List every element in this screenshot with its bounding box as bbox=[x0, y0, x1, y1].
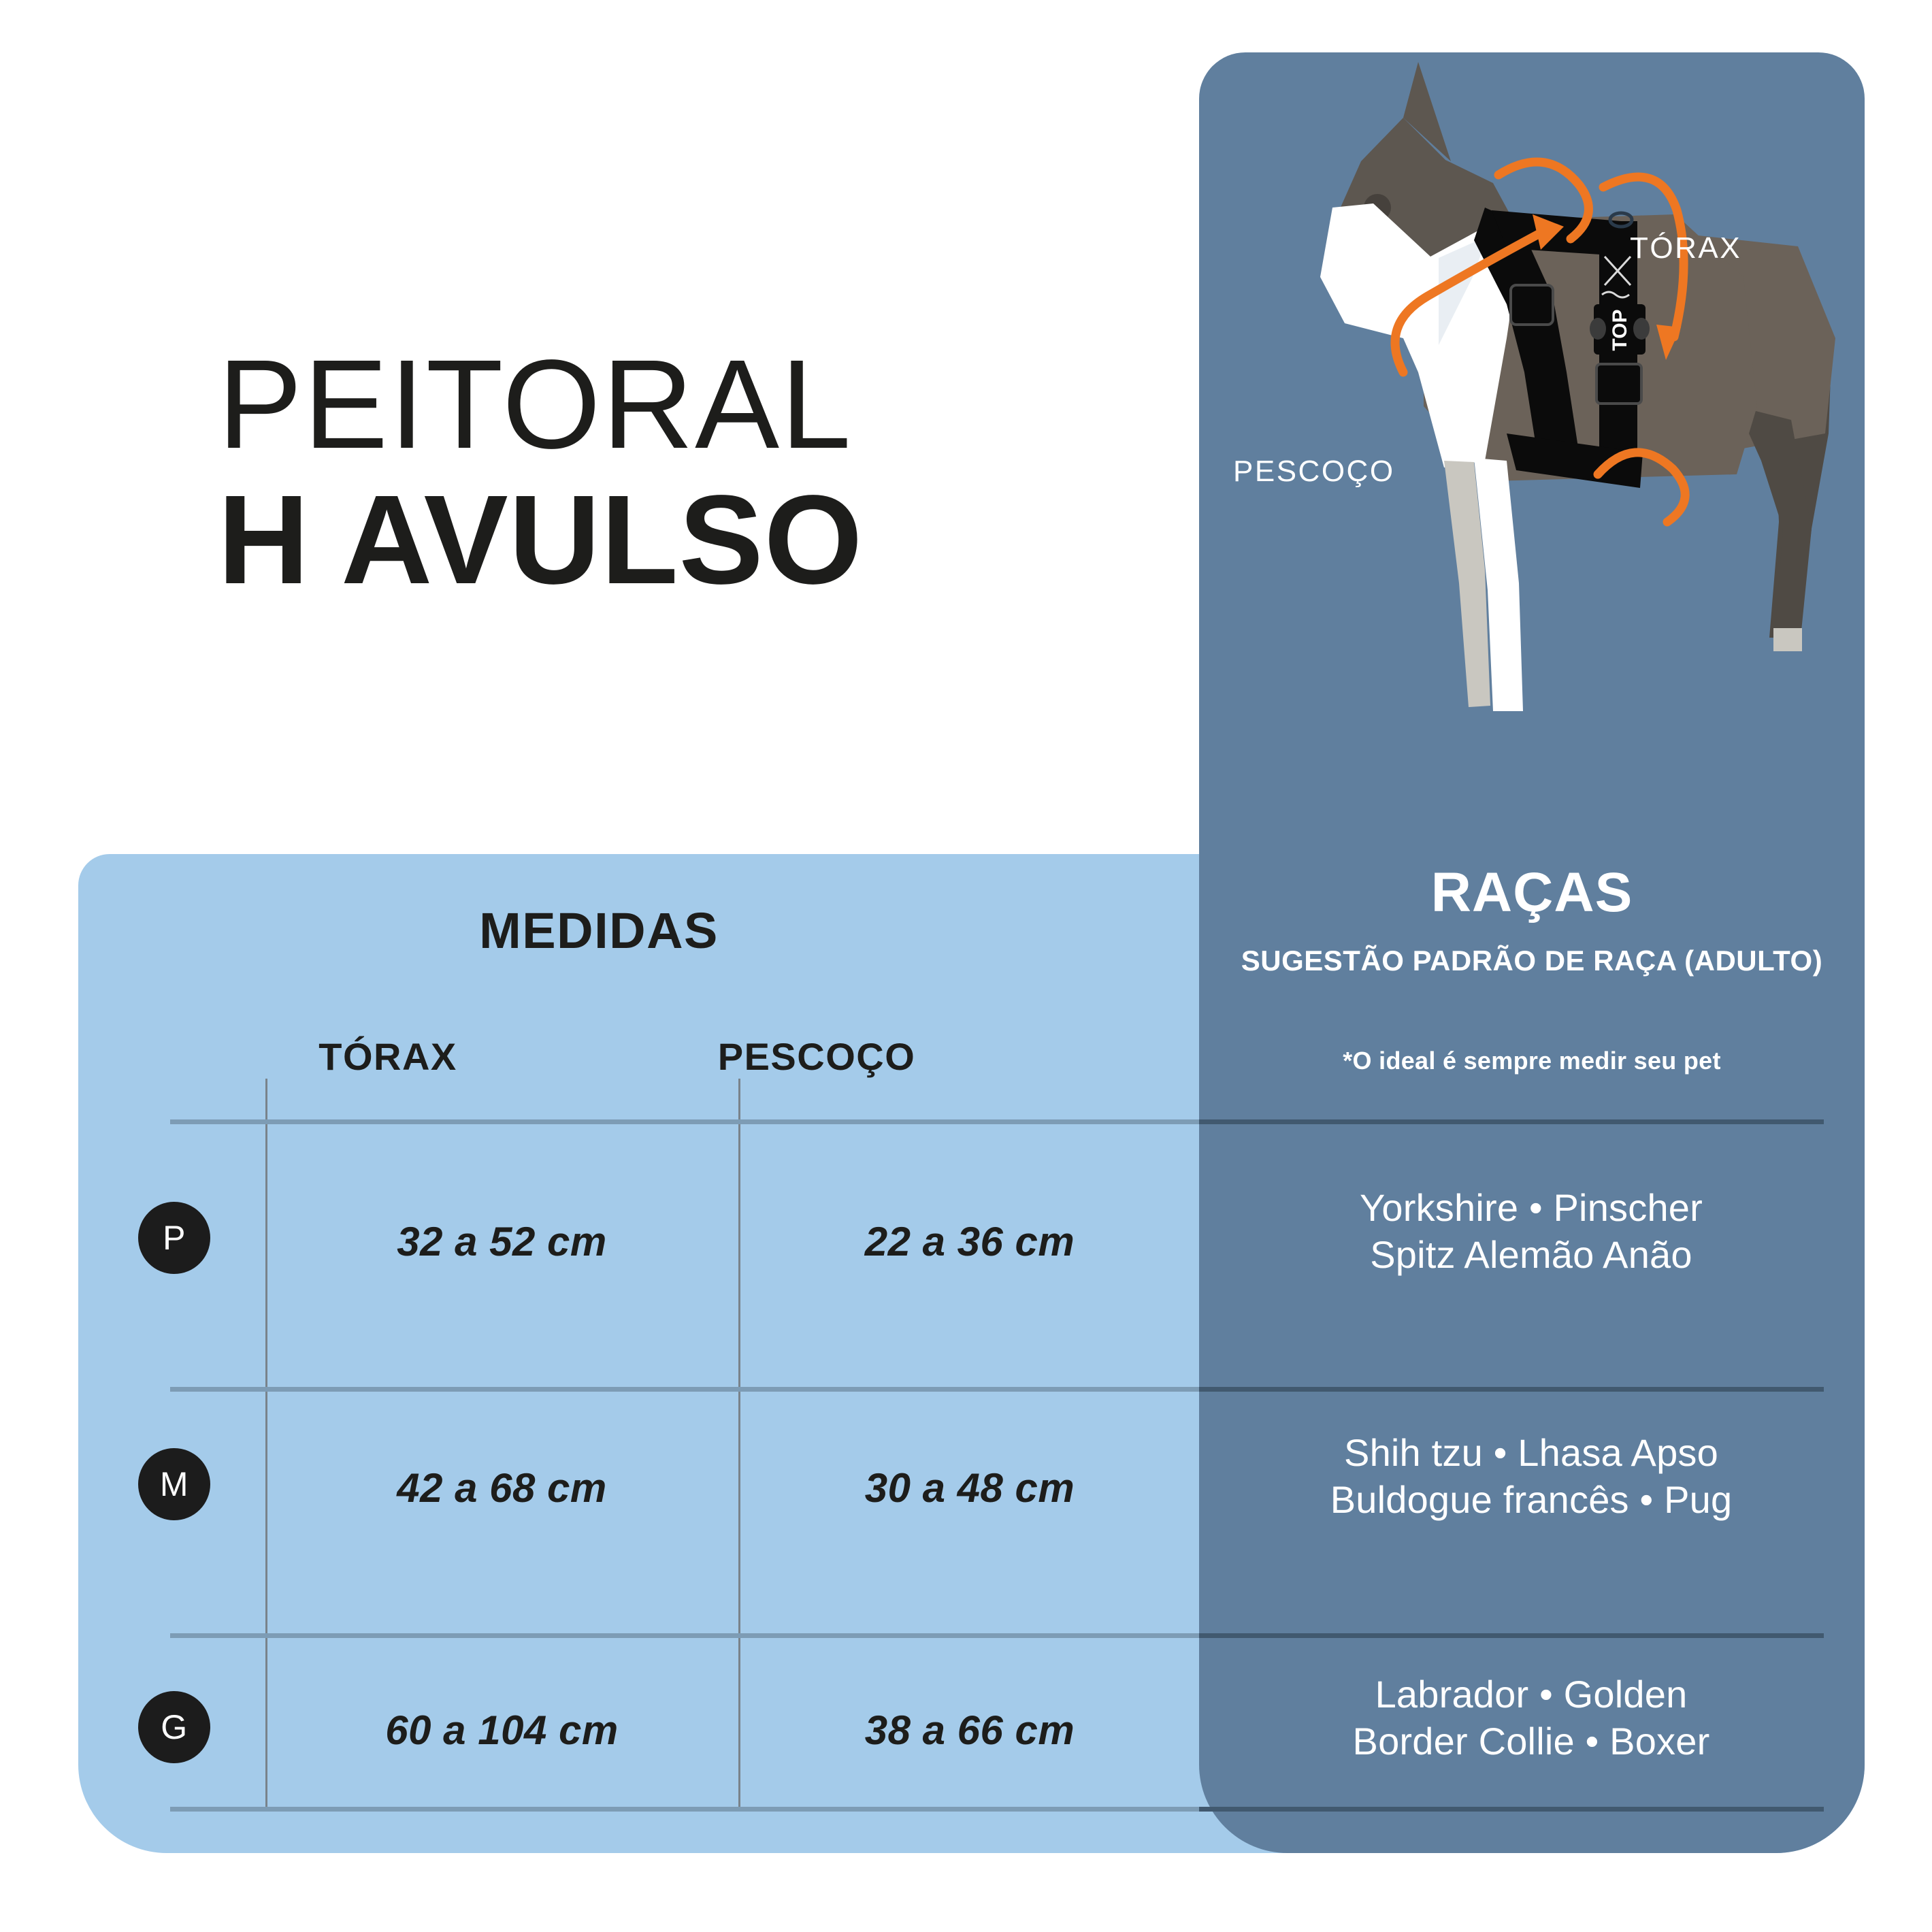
breeds-line: Shih tzu • Lhasa Apso bbox=[1218, 1429, 1844, 1476]
cell-torax-m: 42 a 68 cm bbox=[265, 1464, 738, 1511]
breeds-subheading: SUGESTÃO PADRÃO DE RAÇA (ADULTO) bbox=[1226, 945, 1837, 978]
breeds-row-divider bbox=[1199, 1119, 1824, 1124]
breeds-line: Labrador • Golden bbox=[1218, 1671, 1844, 1718]
size-badge-p: P bbox=[138, 1202, 210, 1274]
column-header-torax: TÓRAX bbox=[170, 1034, 606, 1079]
measures-heading: MEDIDAS bbox=[170, 902, 1028, 960]
svg-text:TOP: TOP bbox=[1609, 309, 1631, 350]
title-line-1: PEITORAL bbox=[218, 344, 863, 466]
table-vertical-divider bbox=[738, 1079, 740, 1807]
cell-torax-g: 60 a 104 cm bbox=[265, 1707, 738, 1754]
breeds-heading: RAÇAS bbox=[1199, 861, 1865, 925]
breeds-line: Buldogue francês • Pug bbox=[1218, 1476, 1844, 1523]
title-line-2: H AVULSO bbox=[218, 477, 863, 604]
page-title: PEITORAL H AVULSO bbox=[218, 344, 863, 604]
cell-pescoco-g: 38 a 66 cm bbox=[738, 1707, 1201, 1754]
illustration-label-torax: TÓRAX bbox=[1630, 231, 1741, 265]
breeds-note: *O ideal é sempre medir seu pet bbox=[1226, 1047, 1837, 1075]
cell-torax-p: 32 a 52 cm bbox=[265, 1218, 738, 1265]
breeds-line: Border Collie • Boxer bbox=[1218, 1718, 1844, 1765]
column-header-pescoco: PESCOÇO bbox=[606, 1034, 1028, 1079]
measures-table-header: TÓRAX PESCOÇO bbox=[170, 1034, 1028, 1096]
breeds-row-m: Shih tzu • Lhasa Apso Buldogue francês •… bbox=[1218, 1429, 1844, 1524]
size-badge-g: G bbox=[138, 1691, 210, 1763]
breeds-row-divider bbox=[1199, 1387, 1824, 1392]
breeds-line: Yorkshire • Pinscher bbox=[1218, 1184, 1844, 1231]
table-vertical-divider bbox=[265, 1079, 267, 1807]
breeds-row-p: Yorkshire • Pinscher Spitz Alemão Anão bbox=[1218, 1184, 1844, 1279]
cell-pescoco-m: 30 a 48 cm bbox=[738, 1464, 1201, 1511]
cell-pescoco-p: 22 a 36 cm bbox=[738, 1218, 1201, 1265]
size-badge-m: M bbox=[138, 1448, 210, 1520]
breeds-row-divider bbox=[1199, 1633, 1824, 1638]
illustration-label-pescoco: PESCOÇO bbox=[1233, 455, 1395, 489]
breeds-row-divider bbox=[1199, 1807, 1824, 1812]
breeds-line: Spitz Alemão Anão bbox=[1218, 1231, 1844, 1278]
breeds-row-g: Labrador • Golden Border Collie • Boxer bbox=[1218, 1671, 1844, 1765]
dog-harness-illustration: TOP bbox=[1199, 52, 1865, 774]
